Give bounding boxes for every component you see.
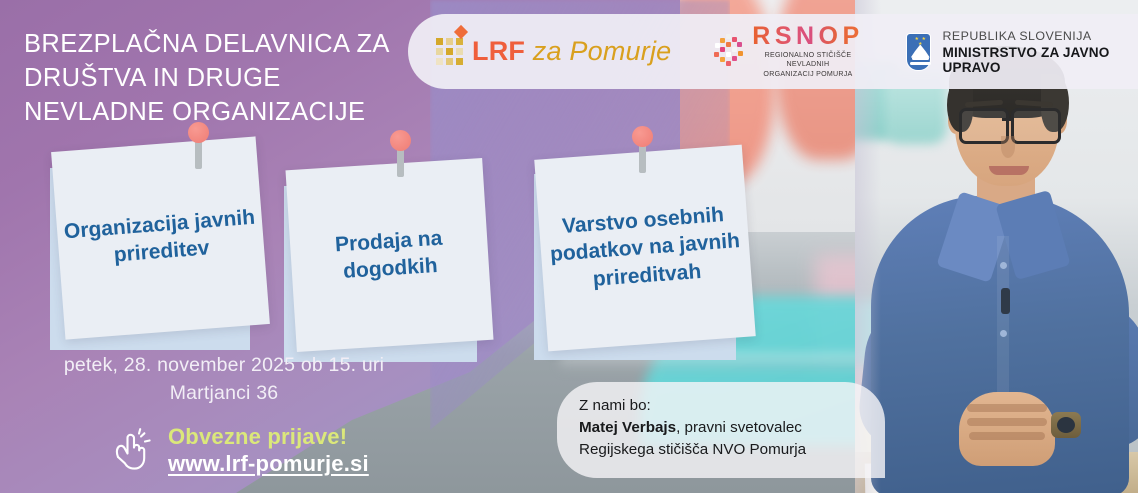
rsnop-acronym: RSNOP — [752, 24, 863, 49]
lrf-wordmark: LRF za Pomurje — [472, 36, 671, 67]
click-hand-icon — [108, 427, 154, 475]
cta-url[interactable]: www.lrf-pomurje.si — [168, 451, 369, 477]
speaker-info-box: Z nami bo: Matej Verbajs, pravni svetova… — [557, 382, 885, 478]
rsnop-wordmark: RSNOP REGIONALNO STIČIŠČE NEVLADNIH ORGA… — [750, 24, 866, 79]
logo-bar: LRF za Pomurje RSNO — [408, 14, 1138, 89]
event-location: Martjanci 36 — [24, 380, 424, 408]
rsnop-subtitle-line-2: ORGANIZACIJ POMURJA — [750, 70, 866, 79]
government-line-1: REPUBLIKA SLOVENIJA — [943, 29, 1138, 43]
cta-text: Obvezne prijave! www.lrf-pomurje.si — [168, 424, 369, 477]
photo-shirt-button-1 — [1000, 262, 1007, 269]
lrf-diamond-icon — [454, 25, 468, 39]
photo-lapel-mic — [1001, 288, 1010, 314]
government-line-2: MINISTRSTVO ZA JAVNO UPRAVO — [943, 45, 1138, 75]
photo-finger-3 — [969, 432, 1045, 440]
speaker-name: Matej Verbajs — [579, 419, 676, 436]
card-label-2: Prodaja na dogodkih — [285, 158, 493, 352]
logo-lrf: LRF za Pomurje — [436, 36, 671, 67]
photo-watch-face — [1057, 417, 1075, 433]
rsnop-flower-icon — [713, 34, 743, 68]
event-datetime: petek, 28. november 2025 ob 15. uri — [24, 352, 424, 380]
rsnop-subtitle: REGIONALNO STIČIŠČE NEVLADNIH ORGANIZACI… — [750, 51, 866, 79]
government-wordmark: REPUBLIKA SLOVENIJA MINISTRSTVO ZA JAVNO… — [943, 29, 1138, 75]
registration-cta[interactable]: Obvezne prijave! www.lrf-pomurje.si — [108, 424, 369, 477]
logo-government: REPUBLIKA SLOVENIJA MINISTRSTVO ZA JAVNO… — [906, 29, 1138, 75]
page-title: BREZPLAČNA DELAVNICA ZA DRUŠTVA IN DRUGE… — [24, 27, 404, 129]
speaker-intro: Z nami bo: — [579, 395, 865, 417]
lrf-tagline: za Pomurje — [533, 36, 672, 66]
photo-glasses-right-lens — [1011, 108, 1061, 144]
photo-mouth — [989, 166, 1029, 175]
logo-rsnop: RSNOP REGIONALNO STIČIŠČE NEVLADNIH ORGA… — [713, 24, 865, 79]
rsnop-subtitle-line-1: REGIONALNO STIČIŠČE NEVLADNIH — [750, 51, 866, 70]
lrf-grid-icon — [436, 38, 463, 65]
event-details: petek, 28. november 2025 ob 15. uri Mart… — [24, 352, 424, 407]
photo-shirt-button-2 — [1000, 330, 1007, 337]
slovenia-coat-of-arms-icon — [906, 33, 931, 71]
speaker-name-row: Matej Verbajs, pravni svetovalec — [579, 417, 865, 439]
speaker-organisation: Regijskega stičišča NVO Pomurja — [579, 439, 865, 461]
card-label-3: Varstvo osebnih podatkov na javnih prire… — [534, 145, 756, 352]
photo-nose — [1001, 136, 1015, 158]
photo-finger-1 — [967, 404, 1047, 412]
photo-glasses-bridge — [1002, 118, 1014, 121]
photo-finger-2 — [967, 418, 1047, 426]
card-label-1: Organizacija javnih prireditev — [51, 136, 270, 339]
cta-headline: Obvezne prijave! — [168, 424, 369, 450]
lrf-name: LRF — [472, 36, 525, 66]
promo-banner: BREZPLAČNA DELAVNICA ZA DRUŠTVA IN DRUGE… — [0, 0, 1138, 493]
speaker-role: , pravni svetovalec — [676, 419, 802, 436]
